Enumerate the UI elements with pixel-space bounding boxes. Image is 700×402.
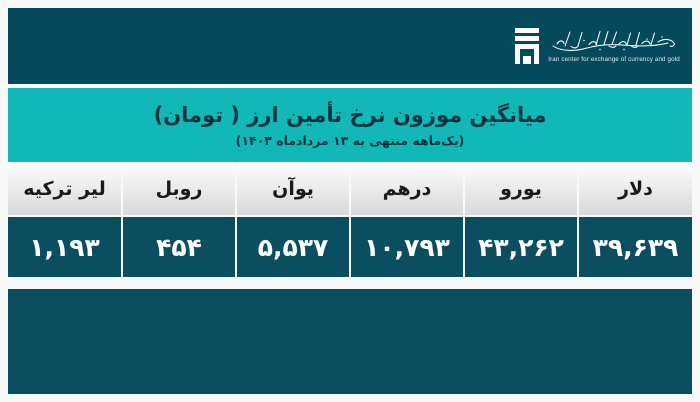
value-cell-yuan: ۵,۵۳۷: [236, 216, 350, 277]
value-cell-euro: ۴۳,۲۶۲: [464, 216, 578, 277]
report-page: Iran center for exchange of currency and…: [0, 0, 700, 402]
table-row: ۳۹,۶۳۹ ۴۳,۲۶۲ ۱۰,۷۹۳ ۵,۵۳۷ ۴۵۴ ۱,۱۹۳: [8, 216, 692, 277]
brand-name-english: Iran center for exchange of currency and…: [548, 57, 680, 63]
column-header-turkish-lira: لیر ترکیه: [8, 163, 122, 216]
table-header-row: دلار یورو درهم یوآن روبل لیر ترکیه: [8, 163, 692, 216]
column-header-dollar: دلار: [578, 163, 692, 216]
value-cell-dollar: ۳۹,۶۳۹: [578, 216, 692, 277]
page-subtitle: (یک‌ماهه منتهی به ۱۳ مردادماه ۱۴۰۳): [236, 133, 465, 148]
column-header-yuan: یوآن: [236, 163, 350, 216]
brand-header-bar: Iran center for exchange of currency and…: [8, 8, 692, 84]
rates-table-wrapper: دلار یورو درهم یوآن روبل لیر ترکیه ۳۹,۶۳…: [8, 163, 692, 277]
value-cell-turkish-lira: ۱,۱۹۳: [8, 216, 122, 277]
column-header-euro: یورو: [464, 163, 578, 216]
rates-table: دلار یورو درهم یوآن روبل لیر ترکیه ۳۹,۶۳…: [8, 163, 692, 277]
value-cell-ruble: ۴۵۴: [122, 216, 236, 277]
brand-logo: Iran center for exchange of currency and…: [514, 27, 692, 65]
page-title: میانگین موزون نرخ تأمین ارز ( تومان): [154, 102, 547, 128]
value-cell-dirham: ۱۰,۷۹۳: [350, 216, 464, 277]
report-title-band: میانگین موزون نرخ تأمین ارز ( تومان) (یک…: [8, 88, 692, 162]
column-header-ruble: روبل: [122, 163, 236, 216]
column-header-dirham: درهم: [350, 163, 464, 216]
footer-panel: [8, 287, 692, 394]
ice-monogram-icon: [514, 27, 540, 65]
brand-logo-text: Iran center for exchange of currency and…: [548, 28, 680, 63]
persian-calligraphy-wordmark-icon: [548, 28, 680, 54]
